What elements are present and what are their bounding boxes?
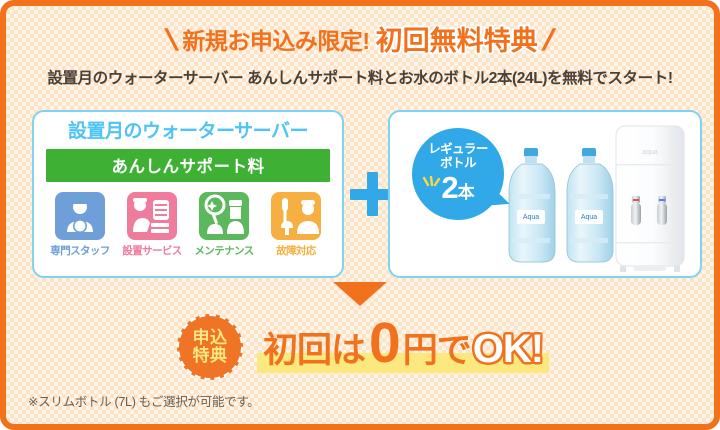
footnote: ※スリムボトル (7L) もご選択が可能です。	[28, 391, 260, 410]
headline-plain: 新規お申込み限定!	[182, 30, 369, 53]
offer-ok-text: OK!	[473, 327, 543, 372]
badge-line-1: 申込	[192, 329, 227, 347]
bubble-line-2: ボトル	[412, 156, 504, 170]
service-label-repair: 故障対応	[264, 243, 328, 258]
bottles-card: レギュラー ボトル 2本	[388, 110, 702, 278]
slash-left-icon: \	[163, 26, 181, 56]
svg-text:Aqua: Aqua	[523, 214, 539, 221]
sparkle-icon	[422, 176, 442, 194]
cards-row: 設置月のウォーターサーバー あんしんサポート料	[28, 110, 692, 280]
promo-banner: \ 新規お申込み限定! 初回無料特典 / 設置月のウォーターサーバー あんしんサ…	[0, 0, 720, 430]
regular-bottle-bubble: レギュラー ボトル 2本	[412, 128, 504, 220]
down-arrow-icon	[333, 282, 387, 306]
installation-service-icon	[127, 192, 177, 240]
bubble-count-number: 2	[441, 170, 457, 205]
bubble-count-unit: 本	[458, 183, 475, 202]
water-server-dispenser: aqua	[612, 124, 688, 274]
staff-person-icon	[55, 192, 105, 240]
maintenance-icon	[199, 192, 249, 240]
service-label-staff: 専門スタッフ	[48, 243, 112, 258]
repair-support-icon	[271, 192, 321, 240]
offer-headline: 初回は 0 円で OK!	[263, 321, 543, 373]
application-benefit-badge: 申込 特典	[177, 314, 243, 380]
service-item-repair: 故障対応	[264, 192, 328, 258]
badge-line-2: 特典	[192, 347, 227, 365]
slash-right-icon: /	[539, 26, 557, 56]
support-card-title: 設置月のウォーターサーバー	[34, 122, 342, 143]
subtitle: 設置月のウォーターサーバー あんしんサポート料とお水のボトル2本(24L)を無料…	[6, 66, 714, 88]
header: \ 新規お申込み限定! 初回無料特典 / 設置月のウォーターサーバー あんしんサ…	[6, 24, 714, 88]
service-item-staff: 専門スタッフ	[48, 192, 112, 258]
svg-text:aqua: aqua	[642, 149, 658, 156]
service-label-maintenance: メンテナンス	[192, 243, 256, 258]
service-item-maintenance: メンテナンス	[192, 192, 256, 258]
offer-row: 申込 特典 初回は 0 円で OK!	[6, 312, 714, 382]
svg-text:Aqua: Aqua	[581, 214, 597, 221]
water-bottles: Aqua Aqua	[502, 146, 620, 268]
support-card: 設置月のウォーターサーバー あんしんサポート料	[32, 110, 344, 278]
offer-zero-number: 0	[369, 321, 401, 367]
support-fee-bar: あんしんサポート料	[46, 149, 330, 182]
service-item-installation: 設置サービス	[120, 192, 184, 258]
service-label-installation: 設置サービス	[120, 243, 184, 258]
offer-text-part1: 初回は	[263, 322, 365, 373]
headline-emphasis: 初回無料特典	[376, 28, 538, 55]
offer-text-part2: 円で	[403, 322, 471, 373]
service-icon-list: 専門スタッフ	[34, 192, 342, 258]
bubble-line-1: レギュラー	[412, 128, 504, 156]
headline-row: \ 新規お申込み限定! 初回無料特典 /	[6, 24, 714, 58]
